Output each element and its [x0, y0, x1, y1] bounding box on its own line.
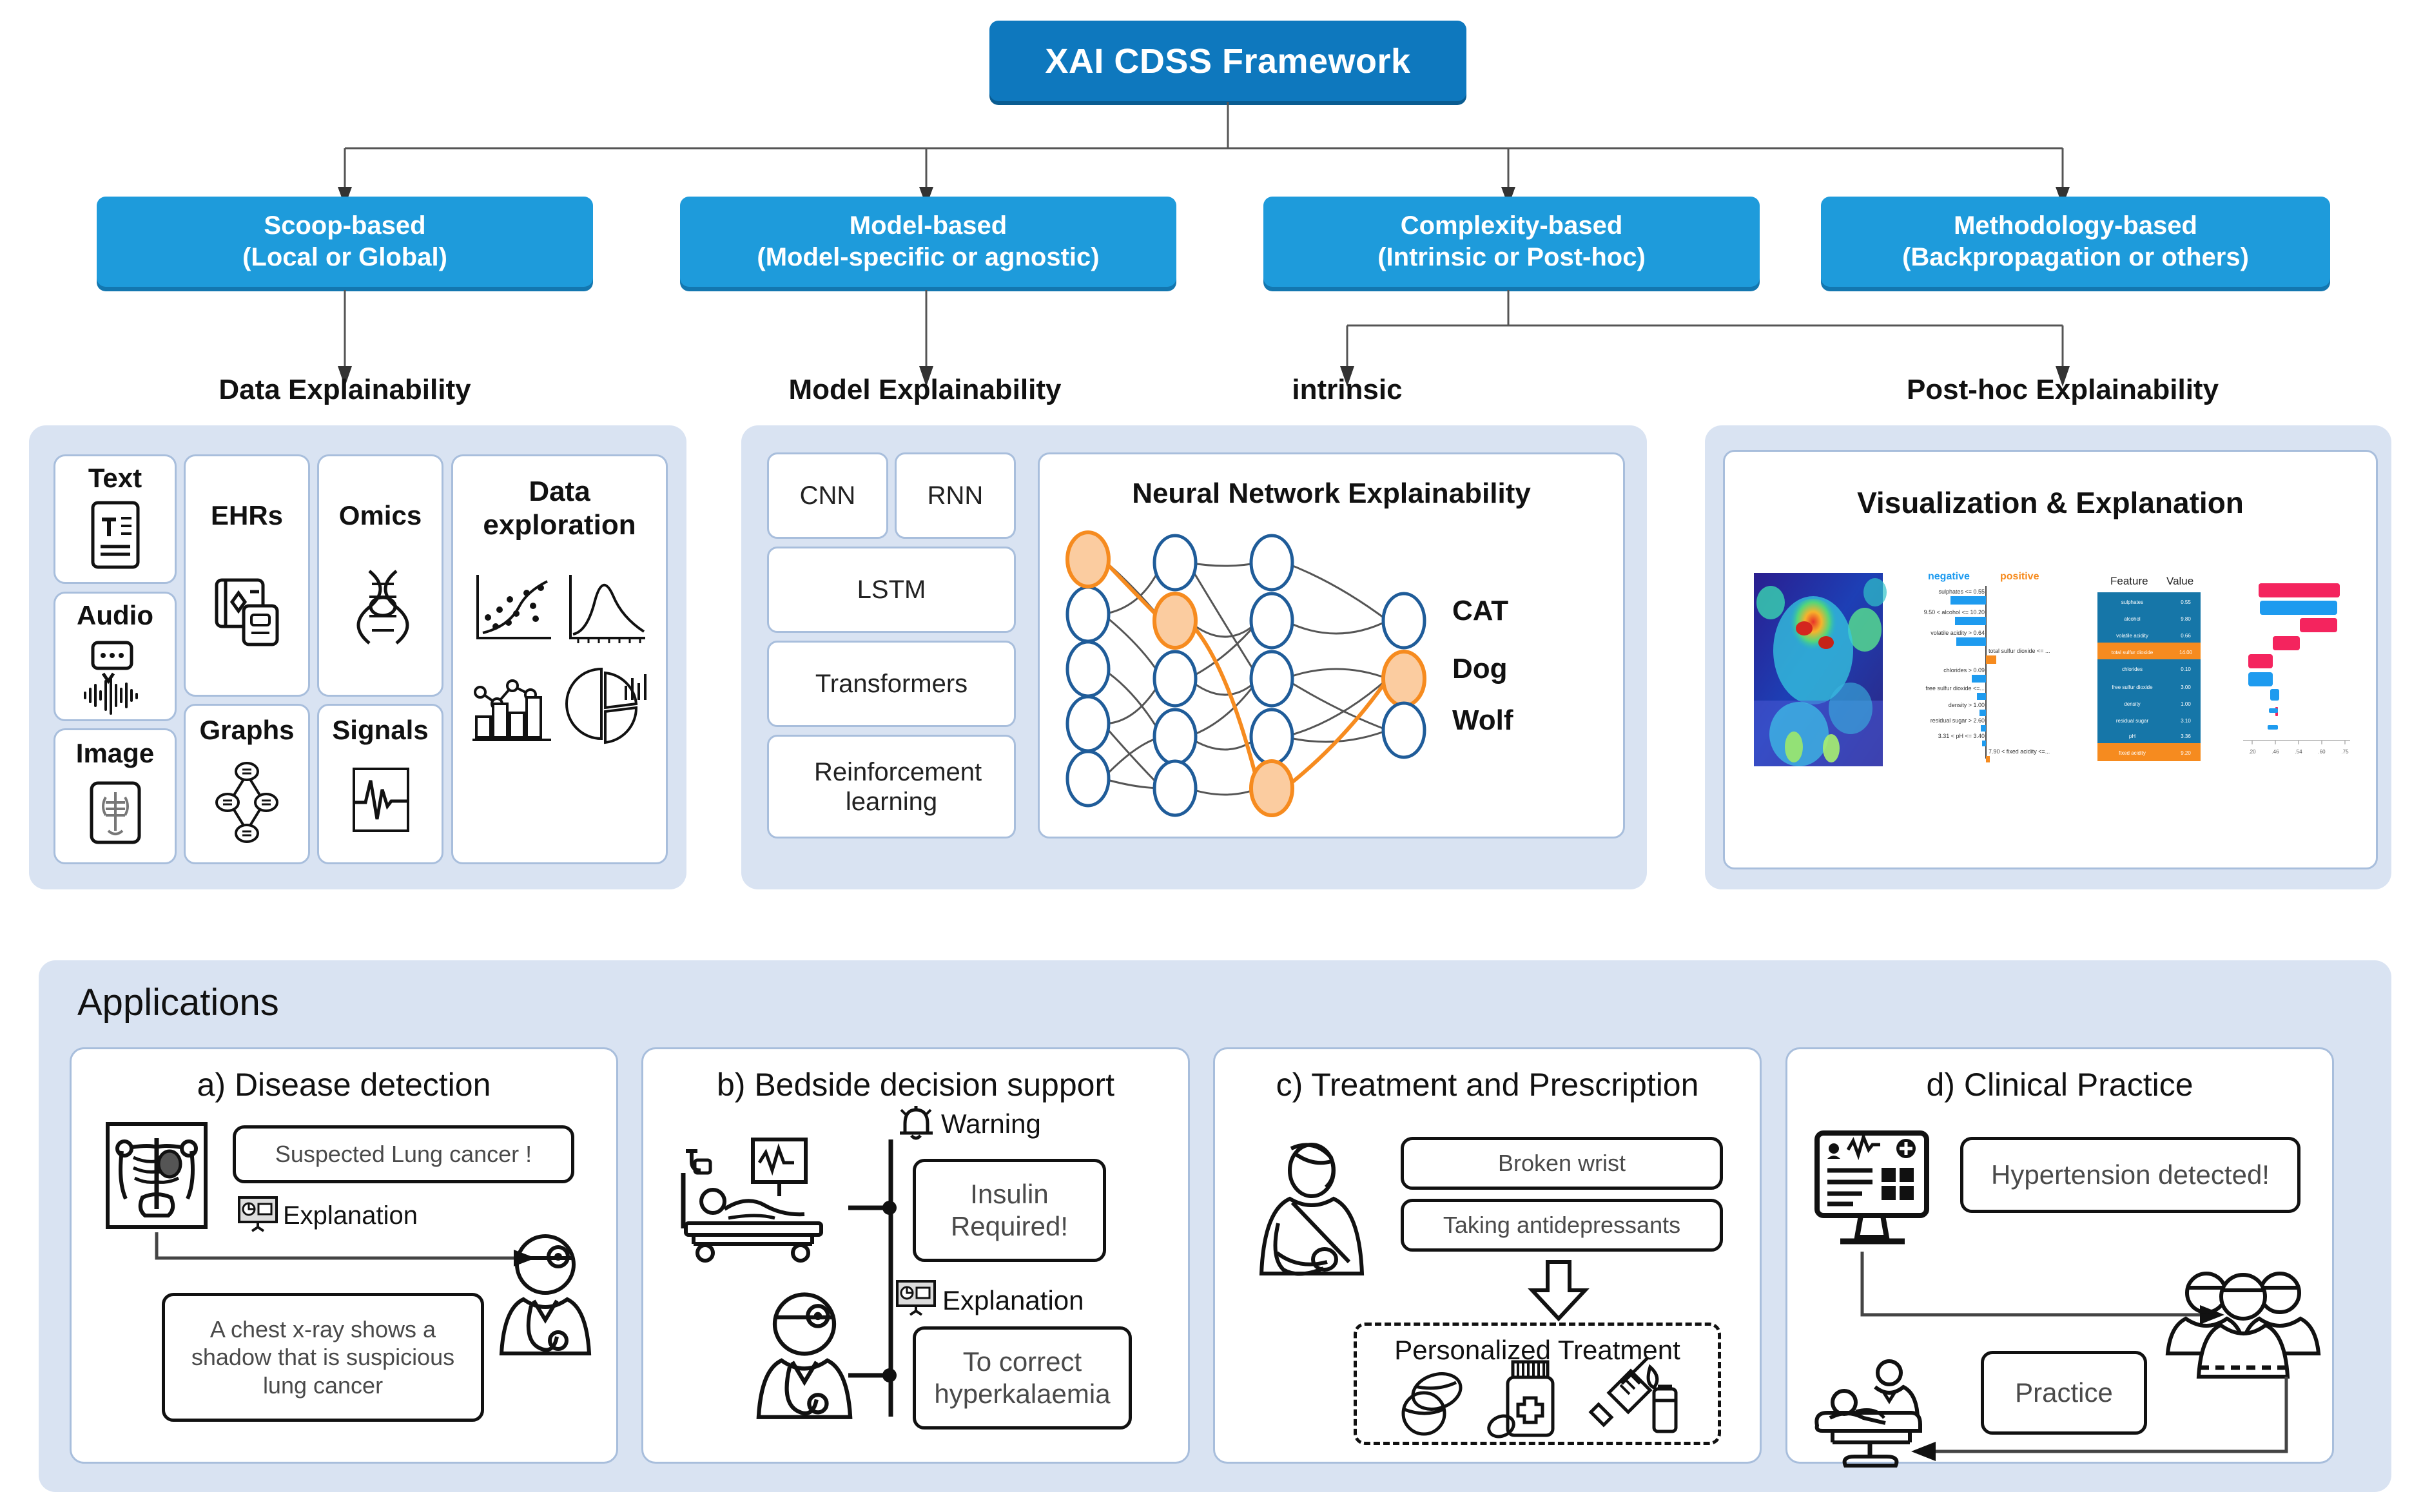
warning-label: Warning: [941, 1109, 1041, 1139]
svg-text:sulphates: sulphates: [2121, 599, 2143, 605]
disease-flow-arrow: [155, 1231, 542, 1272]
category-label-line1: Methodology-based: [1954, 210, 2197, 242]
data-card-label: Text: [55, 463, 175, 494]
doctor-icon: [494, 1230, 597, 1371]
svg-text:fixed acidity: fixed acidity: [2119, 750, 2146, 756]
disease-explanation-bubble: A chest x-ray shows a shadow that is sus…: [162, 1293, 484, 1422]
section-label-posthoc: Post-hoc Explainability: [1856, 374, 2269, 406]
svg-text:1.00: 1.00: [2181, 701, 2191, 707]
category-label-line1: Scoop-based: [264, 210, 425, 242]
nn-output-node-highlighted: [1383, 652, 1425, 706]
data-card-signals[interactable]: Signals: [317, 704, 443, 864]
data-explainability-panel: Text Audio Image EHRs: [29, 425, 686, 889]
data-card-audio[interactable]: Audio: [53, 592, 177, 721]
svg-text:pH: pH: [2129, 733, 2135, 739]
pie-chart-icon: [564, 664, 648, 744]
xray-chest-icon: [105, 1121, 208, 1230]
svg-text:.20: .20: [2248, 749, 2256, 755]
exam-room-icon: [1813, 1356, 1942, 1472]
svg-text:7.90 < fixed acidity <=...: 7.90 < fixed acidity <=...: [1989, 748, 2050, 755]
svg-text:9.80: 9.80: [2181, 616, 2191, 622]
medicine-bottle-icon: [1492, 1359, 1576, 1438]
data-card-text[interactable]: Text: [53, 454, 177, 584]
model-card-cnn[interactable]: CNN: [767, 452, 888, 539]
model-card-lstm[interactable]: LSTM: [767, 547, 1016, 633]
condition-bubble-2: Taking antidepressants: [1401, 1199, 1723, 1252]
category-box-scoop[interactable]: Scoop-based (Local or Global): [97, 197, 593, 287]
svg-text:residual sugar > 2.60: residual sugar > 2.60: [1931, 717, 1985, 724]
explanation-icon: [896, 1280, 936, 1316]
svg-text:0.55: 0.55: [2181, 599, 2191, 605]
model-card-label: LSTM: [857, 575, 926, 605]
svg-text:Feature: Feature: [2110, 575, 2148, 587]
patient-arm-sling-icon: [1252, 1133, 1375, 1281]
svg-text:free sulfur dioxide: free sulfur dioxide: [2112, 684, 2153, 690]
category-label-line2: (Local or Global): [242, 242, 447, 273]
application-title: c) Treatment and Prescription: [1215, 1066, 1760, 1103]
ehr-record-icon: [214, 571, 282, 648]
bar-line-chart-icon: [471, 664, 555, 744]
section-label-model: Model Explainability: [764, 374, 1086, 406]
text-document-icon: [89, 500, 142, 571]
root-title: XAI CDSS Framework: [1045, 41, 1410, 81]
personalized-treatment-box: Personalized Treatment: [1354, 1323, 1721, 1445]
applications-panel: Applications a) Disease detection Suspec…: [39, 960, 2391, 1492]
application-title: a) Disease detection: [72, 1066, 616, 1103]
svg-text:14.00: 14.00: [2179, 650, 2193, 655]
bell-warning-icon: [896, 1103, 936, 1143]
svg-text:sulphates <= 0.55: sulphates <= 0.55: [1938, 588, 1985, 595]
hospital-bed-icon: [677, 1133, 870, 1262]
model-explainability-panel: CNN RNN LSTM Transformers Reinforcement …: [741, 425, 1647, 889]
svg-text:total sulfur dioxide: total sulfur dioxide: [2112, 650, 2154, 655]
bedside-connector-explanation: [848, 1366, 900, 1386]
application-title: d) Clinical Practice: [1787, 1066, 2332, 1103]
category-box-methodology[interactable]: Methodology-based (Backpropagation or ot…: [1821, 197, 2330, 287]
explanation-label: Explanation: [942, 1285, 1084, 1316]
category-label-line2: (Intrinsic or Post-hoc): [1377, 242, 1646, 273]
data-card-label-line2: exploration: [453, 509, 666, 541]
disease-alert-bubble: Suspected Lung cancer !: [233, 1125, 574, 1183]
category-label-line1: Model-based: [850, 210, 1007, 242]
model-card-label: Reinforcement learning: [814, 757, 969, 817]
nn-node-highlighted: [1067, 532, 1109, 586]
data-card-omics[interactable]: Omics: [317, 454, 443, 697]
category-label-line2: (Backpropagation or others): [1902, 242, 2249, 273]
svg-text:chlorides: chlorides: [2122, 666, 2143, 672]
scatter-plot-icon: [471, 571, 555, 648]
visualization-card[interactable]: Visualization & Explanation: [1723, 450, 2378, 869]
shap-waterfall: .20.46.54.60.75: [2234, 572, 2363, 771]
nn-output-label-wolf: Wolf: [1452, 704, 1513, 737]
svg-text:density > 1.00: density > 1.00: [1949, 702, 1985, 708]
clinical-alert-bubble: Hypertension detected!: [1960, 1137, 2300, 1213]
model-card-label: Transformers: [815, 669, 968, 699]
pills-icon: [1394, 1370, 1484, 1437]
svg-text:free sulfur dioxide <=...: free sulfur dioxide <=...: [1925, 685, 1985, 692]
explanation-icon: [238, 1196, 278, 1232]
doctor-icon: [746, 1288, 862, 1436]
explanation-text: To correct hyperkalaemia: [922, 1346, 1122, 1411]
posthoc-explainability-panel: Visualization & Explanation: [1705, 425, 2391, 889]
category-box-model[interactable]: Model-based (Model-specific or agnostic): [680, 197, 1176, 287]
svg-text:alcohol: alcohol: [2124, 616, 2141, 622]
disease-explanation-text: A chest x-ray shows a shadow that is sus…: [171, 1315, 474, 1399]
category-box-complexity[interactable]: Complexity-based (Intrinsic or Post-hoc): [1263, 197, 1760, 287]
svg-text:negative: negative: [1928, 571, 1970, 582]
feature-value-table: Feature Value sulphates0.55 alcohol9.80 …: [2086, 572, 2215, 771]
svg-text:density: density: [2124, 701, 2140, 707]
clinical-flow-arrow-left: [1902, 1375, 2289, 1466]
dna-helix-icon: [353, 567, 414, 651]
neural-network-card[interactable]: Neural Network Explainability: [1038, 452, 1625, 838]
application-card-disease-detection[interactable]: a) Disease detection Suspected Lung canc…: [70, 1047, 618, 1464]
section-label-data: Data Explainability: [184, 374, 506, 406]
svg-text:3.00: 3.00: [2181, 684, 2191, 690]
warning-bubble: Insulin Required!: [913, 1159, 1106, 1262]
graph-nodes-icon: [217, 759, 278, 849]
svg-text:.60: .60: [2318, 749, 2326, 755]
svg-text:residual sugar: residual sugar: [2116, 718, 2149, 724]
audio-waveform-icon: [81, 640, 149, 708]
condition-text: Broken wrist: [1498, 1149, 1626, 1177]
svg-text:volatile acidity: volatile acidity: [2116, 633, 2148, 639]
down-arrow-icon: [1523, 1259, 1594, 1321]
svg-text:.54: .54: [2295, 749, 2302, 755]
clinician-group-icon: [2175, 1262, 2311, 1391]
svg-text:0.10: 0.10: [2181, 666, 2191, 672]
data-card-exploration[interactable]: Data exploration: [451, 454, 668, 864]
data-card-image[interactable]: Image: [53, 728, 177, 864]
svg-text:3.10: 3.10: [2181, 718, 2191, 724]
data-card-label: Image: [55, 738, 175, 769]
distribution-curve-icon: [564, 571, 648, 648]
syringe-icon: [1586, 1353, 1682, 1438]
svg-text:.75: .75: [2341, 749, 2349, 755]
explanation-bubble: To correct hyperkalaemia: [913, 1326, 1132, 1430]
monitor-record-icon: [1814, 1130, 1941, 1253]
hierarchy-connectors: [0, 97, 2412, 213]
explanation-label: Explanation: [283, 1201, 418, 1230]
bedside-connector-warning: [848, 1199, 900, 1218]
svg-text:3.36: 3.36: [2181, 733, 2191, 739]
visualization-title: Visualization & Explanation: [1725, 485, 2376, 520]
svg-text:0.66: 0.66: [2181, 633, 2191, 639]
condition-text: Taking antidepressants: [1443, 1211, 1680, 1239]
application-card-clinical-practice[interactable]: d) Clinical Practice Hypertension detect…: [1785, 1047, 2334, 1464]
clinical-alert-text: Hypertension detected!: [1991, 1159, 2270, 1191]
xray-image-icon: [89, 780, 142, 845]
applications-heading: Applications: [77, 981, 279, 1024]
svg-text:chlorides > 0.09: chlorides > 0.09: [1943, 667, 1985, 674]
svg-text:total sulfur dioxide <= ...: total sulfur dioxide <= ...: [1989, 648, 2050, 654]
data-card-graphs[interactable]: Graphs: [184, 704, 310, 864]
nn-node-highlighted: [1154, 594, 1196, 648]
data-card-label: Graphs: [186, 715, 308, 746]
root-box: XAI CDSS Framework: [989, 21, 1466, 101]
data-card-label: Omics: [319, 500, 442, 531]
condition-bubble-1: Broken wrist: [1401, 1137, 1723, 1190]
svg-text:.46: .46: [2271, 749, 2279, 755]
model-card-label: RNN: [928, 481, 984, 510]
lime-explanation: negative positive sulphates <= 0.55 9.50…: [1915, 565, 2063, 771]
data-card-ehrs[interactable]: EHRs: [184, 454, 310, 697]
svg-text:Value: Value: [2166, 575, 2193, 587]
ecg-signal-icon: [351, 765, 411, 836]
nn-node-highlighted: [1251, 761, 1292, 815]
nn-output-label-dog: Dog: [1452, 653, 1508, 685]
svg-text:volatile acidity > 0.64: volatile acidity > 0.64: [1931, 630, 1985, 636]
svg-text:positive: positive: [2000, 571, 2039, 582]
model-card-rnn[interactable]: RNN: [895, 452, 1016, 539]
model-card-transformers[interactable]: Transformers: [767, 641, 1016, 727]
data-card-label: EHRs: [186, 500, 308, 531]
svg-text:9.20: 9.20: [2181, 750, 2191, 756]
category-label-line1: Complexity-based: [1401, 210, 1623, 242]
svg-text:9.50 < alcohol <= 10.20: 9.50 < alcohol <= 10.20: [1924, 609, 1985, 615]
neural-network-title: Neural Network Explainability: [1040, 478, 1623, 510]
data-card-label: Signals: [319, 715, 442, 746]
disease-alert-text: Suspected Lung cancer !: [275, 1140, 532, 1168]
warning-text: Insulin Required!: [922, 1178, 1096, 1243]
application-card-bedside[interactable]: b) Bedside decision support Warning: [641, 1047, 1190, 1464]
application-card-treatment[interactable]: c) Treatment and Prescription Broken wri…: [1213, 1047, 1762, 1464]
nn-output-label-cat: CAT: [1452, 595, 1508, 627]
data-card-label: Audio: [55, 600, 175, 631]
svg-text:3.31 < pH <= 3.40: 3.31 < pH <= 3.40: [1938, 733, 1985, 739]
saliency-heatmap: [1754, 573, 1883, 766]
model-card-reinforcement-learning[interactable]: Reinforcement learning: [767, 735, 1016, 838]
model-card-label: CNN: [800, 481, 856, 510]
category-label-line2: (Model-specific or agnostic): [757, 242, 1099, 273]
section-label-intrinsic: intrinsic: [1218, 374, 1476, 406]
application-title: b) Bedside decision support: [643, 1066, 1188, 1103]
data-card-label-line1: Data: [453, 476, 666, 508]
